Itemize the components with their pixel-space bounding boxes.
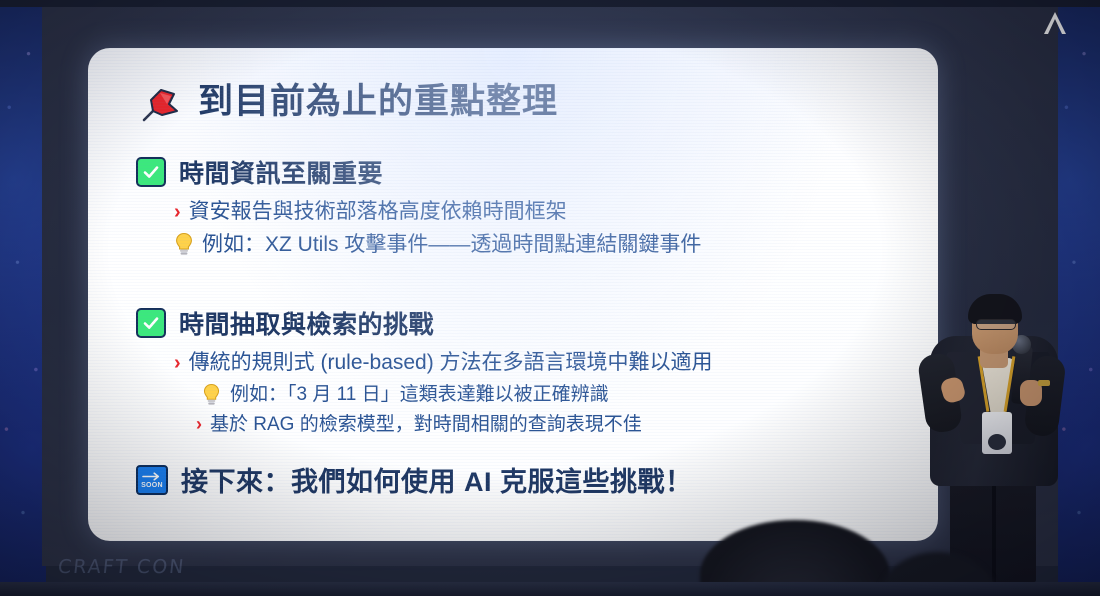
screen-bezel-bottom [0,582,1100,596]
pushpin-icon [136,80,182,124]
soon-arrow-icon: SOON [136,465,168,495]
bullet-text: 資安報告與技術部落格高度依賴時間框架 [189,197,567,227]
section-heading-row: 時間抽取與檢索的挑戰 [136,305,904,341]
call-to-action-row: SOON 接下來：我們如何使用 AI 克服這些挑戰！ [136,460,904,499]
chevron-right-icon: › [174,348,181,378]
soon-label: SOON [141,482,163,489]
bullet-item: › 資安報告與技術部落格高度依賴時間框架 [174,197,904,227]
chevron-right-icon: › [196,411,202,438]
bullet-text: 基於 RAG 的檢索模型，對時間相關的查詢表現不佳 [210,411,642,439]
craftcon-logo-icon [1038,8,1072,38]
bullet-item: › 基於 RAG 的檢索模型，對時間相關的查詢表現不佳 [196,411,904,439]
section-heading-row: 時間資訊至關重要 [136,154,904,190]
green-check-icon [136,157,166,187]
bullet-text: 傳統的規則式 (rule-based) 方法在多語言環境中難以適用 [189,348,713,378]
screen-bezel-top [0,0,1100,7]
lightbulb-icon [174,232,194,256]
green-check-icon [136,308,166,338]
page-title: 到目前為止的重點整理 [198,83,558,122]
section-extraction-challenges: 時間抽取與檢索的挑戰 › 傳統的規則式 (rule-based) 方法在多語言環… [136,305,904,439]
bullet-item: 例如：「3 月 11 日」這類表達難以被正確辨識 [202,381,904,409]
section-time-info-critical: 時間資訊至關重要 › 資安報告與技術部落格高度依賴時間框架 例如：XZ Util… [136,154,904,261]
section-heading: 時間抽取與檢索的挑戰 [179,305,434,341]
bullet-item: 例如：XZ Utils 攻擊事件——透過時間點連結關鍵事件 [174,230,904,260]
section-heading: 時間資訊至關重要 [179,154,383,190]
call-to-action-text: 接下來：我們如何使用 AI 克服這些挑戰！ [181,460,693,499]
starfield-backdrop-right [1058,0,1100,596]
venue-watermark: CRAFT CON [57,556,187,578]
starfield-backdrop-left [0,0,46,596]
bullet-text: 例如：XZ Utils 攻擊事件——透過時間點連結關鍵事件 [202,230,701,260]
slide-title-row: 到目前為止的重點整理 [136,80,904,124]
bullet-item: › 傳統的規則式 (rule-based) 方法在多語言環境中難以適用 [174,348,904,378]
bullet-text: 例如：「3 月 11 日」這類表達難以被正確辨識 [230,381,609,409]
chevron-right-icon: › [174,197,181,227]
conference-stage: 到目前為止的重點整理 時間資訊至關重要 › 資安報告與技術部落格高度依賴時間框架 [0,0,1100,596]
presentation-slide: 到目前為止的重點整理 時間資訊至關重要 › 資安報告與技術部落格高度依賴時間框架 [88,48,938,541]
lightbulb-icon [202,383,222,407]
